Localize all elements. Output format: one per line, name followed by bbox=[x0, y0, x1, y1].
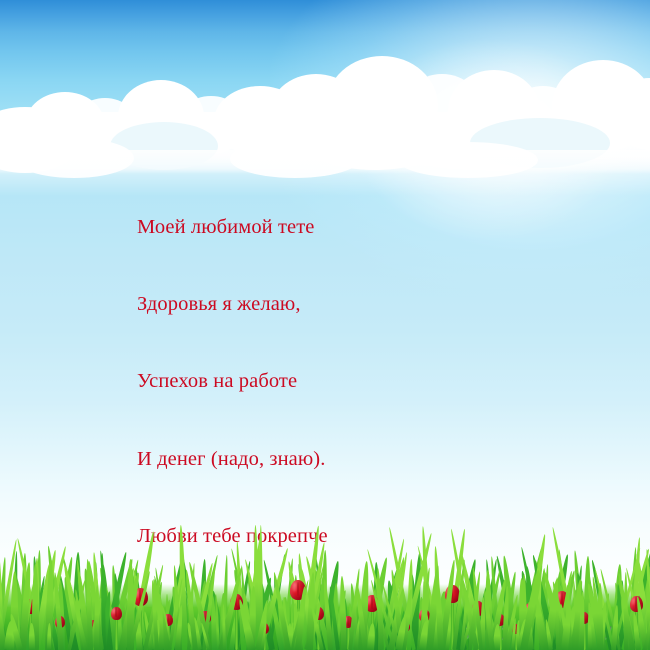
meadow bbox=[0, 520, 650, 650]
greeting-card: Моей любимой тете Здоровья я желаю, Успе… bbox=[0, 0, 650, 650]
grass-blade bbox=[624, 572, 628, 650]
cloud-band bbox=[0, 52, 650, 172]
grass-blade bbox=[28, 623, 34, 650]
tulip-bud bbox=[111, 607, 122, 620]
poem-line: И денег (надо, знаю). bbox=[137, 447, 557, 473]
poem-line: Моей любимой тете bbox=[137, 215, 557, 241]
poem-line: Здоровья я желаю, bbox=[137, 292, 557, 318]
poem-line: Успехов на работе bbox=[137, 369, 557, 395]
